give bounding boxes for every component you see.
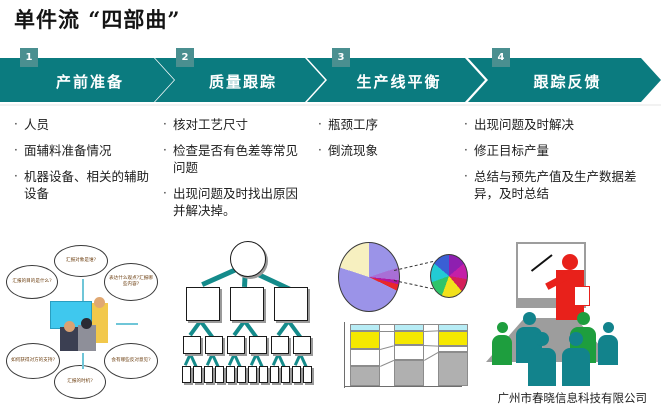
tree-node <box>230 287 264 321</box>
bar-segment <box>438 346 468 352</box>
mindmap-connector <box>82 279 84 301</box>
bullet-dot-icon: · <box>14 168 24 185</box>
mindmap-bubble: 汇报对象是谁? <box>54 245 108 277</box>
bar-segment <box>350 331 380 348</box>
tree-node <box>249 336 267 354</box>
tree-node <box>281 366 290 383</box>
scene-presenter-head <box>94 297 105 308</box>
bar-connector <box>424 345 438 347</box>
tree-node <box>271 336 289 354</box>
bar-segment <box>394 324 424 331</box>
audience-head <box>603 322 614 333</box>
slide-root: 单件流 “四部曲” 产前准备1质量跟踪2生产线平衡3跟踪反馈4 ·人员·面辅料准… <box>0 0 661 412</box>
bullet-dot-icon: · <box>163 142 173 159</box>
tree-node <box>292 366 301 383</box>
pie-detail <box>430 254 468 298</box>
chevron-label: 跟踪反馈 <box>527 71 601 92</box>
audience-body <box>492 335 512 365</box>
pie-main <box>338 242 400 312</box>
process-chevron-band: 产前准备1质量跟踪2生产线平衡3跟踪反馈4 <box>0 58 661 102</box>
tree-node <box>237 366 246 383</box>
tree-node <box>183 336 201 354</box>
bar-segment <box>350 324 380 331</box>
bullet-item: ·瓶颈工序 <box>318 116 448 133</box>
org-tree-illustration <box>172 240 322 405</box>
tree-node <box>270 366 279 383</box>
bullet-dot-icon: · <box>163 185 173 202</box>
leader-line-top <box>394 261 433 271</box>
bar-connector <box>380 331 394 332</box>
bullet-item: ·倒流现象 <box>318 142 448 159</box>
bullet-column-tracking-feedback: ·出现问题及时解决·修正目标产量·总结与预先产值及生产数据差异，及时总结 <box>464 116 649 211</box>
audience-head <box>577 312 590 325</box>
bullet-text: 出现问题及时解决 <box>474 116 649 133</box>
chevron-number-badge: 4 <box>492 48 510 67</box>
mindmap-connector <box>116 323 138 325</box>
tree-node <box>204 366 213 383</box>
bullet-text: 倒流现象 <box>328 142 448 159</box>
tree-node <box>193 366 202 383</box>
bar-segment <box>394 331 424 345</box>
band-underline <box>0 104 661 106</box>
audience-head <box>497 322 508 333</box>
bullet-item: ·修正目标产量 <box>464 142 649 159</box>
bullet-dot-icon: · <box>14 116 24 133</box>
presenter-folder <box>574 286 590 306</box>
chevron-number-badge: 2 <box>176 48 194 67</box>
bullet-item: ·出现问题及时找出原因并解决掉。 <box>163 185 308 219</box>
bullet-item: ·面辅料准备情况 <box>14 142 154 159</box>
chevron-number-badge: 3 <box>332 48 350 67</box>
tree-root-node <box>230 241 266 277</box>
bullet-item: ·出现问题及时解决 <box>464 116 649 133</box>
bullet-text: 核对工艺尺寸 <box>173 116 308 133</box>
bullet-item: ·人员 <box>14 116 154 133</box>
tree-node <box>274 287 308 321</box>
bullet-item: ·检查是否有色差等常见问题 <box>163 142 308 176</box>
bullet-text: 面辅料准备情况 <box>24 142 154 159</box>
tree-node <box>226 366 235 383</box>
bullet-text: 检查是否有色差等常见问题 <box>173 142 308 176</box>
bar-x-axis <box>344 386 462 387</box>
bar-connector <box>380 345 394 350</box>
tree-node <box>227 336 245 354</box>
tree-node <box>205 336 223 354</box>
bullet-column-quality-tracking: ·核对工艺尺寸·检查是否有色差等常见问题·出现问题及时找出原因并解决掉。 <box>163 116 308 228</box>
audience-head <box>569 332 583 346</box>
bar-connector <box>424 331 438 333</box>
presentation-illustration <box>470 240 630 385</box>
bullet-text: 总结与预先产值及生产数据差异，及时总结 <box>474 168 649 202</box>
meeting-mindmap-illustration: 汇报的目的是什么?汇报对象是谁?表达什么观点?汇报哪些内容?如何获得对方的支持?… <box>4 243 162 403</box>
chevron-label: 质量跟踪 <box>203 71 277 92</box>
bullet-text: 修正目标产量 <box>474 142 649 159</box>
audience-head <box>535 332 549 346</box>
chevron-label: 产前准备 <box>50 71 124 92</box>
bullet-text: 瓶颈工序 <box>328 116 448 133</box>
bar-segment <box>350 366 380 386</box>
mindmap-bubble: 汇报的目的是什么? <box>6 265 58 299</box>
bullet-column-pre-production: ·人员·面辅料准备情况·机器设备、相关的辅助设备 <box>14 116 154 211</box>
audience-body <box>598 335 618 365</box>
tree-node <box>186 287 220 321</box>
mindmap-bubble: 汇报的时机? <box>54 365 106 399</box>
bar-connector <box>380 324 394 325</box>
bullet-dot-icon: · <box>318 116 328 133</box>
bullet-text: 出现问题及时找出原因并解决掉。 <box>173 185 308 219</box>
bullet-dot-icon: · <box>163 116 173 133</box>
footer-company: 广州市春晓信息科技有限公司 <box>498 390 648 406</box>
pie-chart-illustration <box>334 240 470 312</box>
tree-node <box>215 366 224 383</box>
audience-body <box>528 348 556 386</box>
bullet-dot-icon: · <box>318 142 328 159</box>
bullet-dot-icon: · <box>464 116 474 133</box>
bullet-item: ·核对工艺尺寸 <box>163 116 308 133</box>
bullet-text: 机器设备、相关的辅助设备 <box>24 168 154 202</box>
audience-head <box>523 312 536 325</box>
tree-node <box>259 366 268 383</box>
bullet-dot-icon: · <box>464 168 474 185</box>
tree-node <box>303 366 312 383</box>
bar-connector <box>380 360 394 367</box>
bar-connector <box>424 324 438 325</box>
mindmap-center-scene <box>48 301 116 353</box>
chevron-label: 生产线平衡 <box>350 71 441 92</box>
bar-segment <box>394 345 424 360</box>
tree-node <box>248 366 257 383</box>
stacked-bar-illustration <box>340 320 466 400</box>
bullet-text: 人员 <box>24 116 154 133</box>
page-title: 单件流 “四部曲” <box>14 4 180 34</box>
tree-node <box>293 336 311 354</box>
bar-connector <box>424 352 439 361</box>
scene-attendee-1-head <box>64 321 75 332</box>
mindmap-bubble: 表达什么观点?汇报哪些内容? <box>104 263 158 301</box>
bar-segment <box>394 360 424 386</box>
presenter-head <box>562 254 578 270</box>
mindmap-connector <box>82 353 84 369</box>
bullet-item: ·总结与预先产值及生产数据差异，及时总结 <box>464 168 649 202</box>
bar-y-axis <box>344 322 345 388</box>
bullet-column-line-balance: ·瓶颈工序·倒流现象 <box>318 116 448 168</box>
bar-segment <box>438 352 468 386</box>
bullet-dot-icon: · <box>464 142 474 159</box>
bullet-dot-icon: · <box>14 142 24 159</box>
audience-body <box>562 348 590 386</box>
bar-segment <box>350 349 380 366</box>
bullet-item: ·机器设备、相关的辅助设备 <box>14 168 154 202</box>
leader-line-bottom <box>394 280 433 289</box>
bar-segment <box>438 331 468 346</box>
bar-segment <box>438 324 468 331</box>
chevron-number-badge: 1 <box>20 48 38 67</box>
tree-node <box>182 366 191 383</box>
scene-attendee-2-head <box>81 318 92 329</box>
